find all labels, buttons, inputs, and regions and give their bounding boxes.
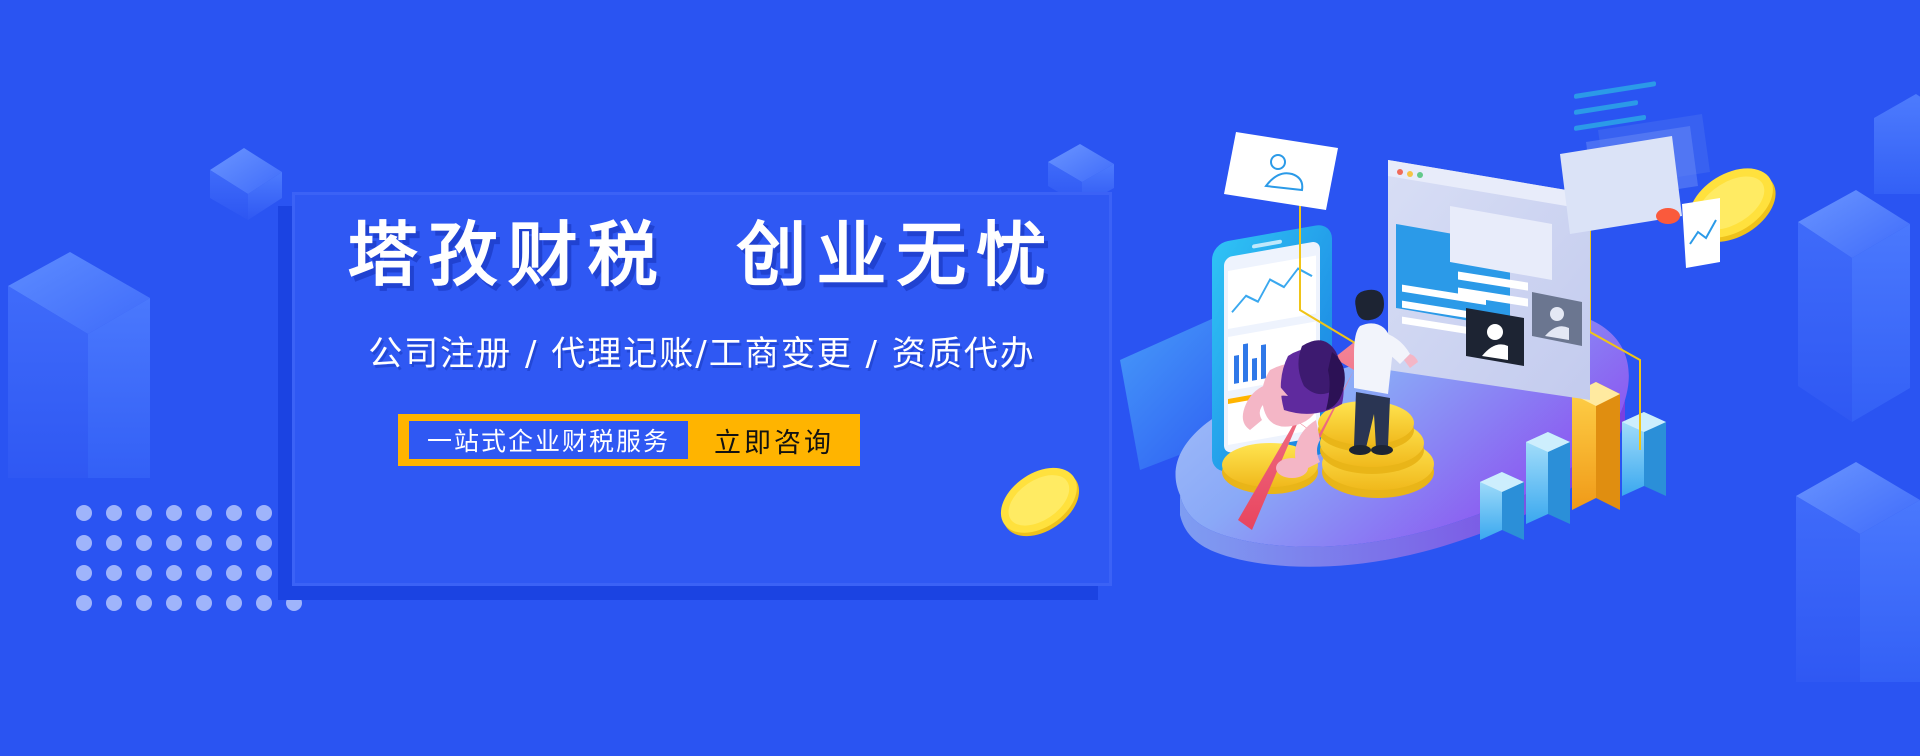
dot (256, 565, 272, 581)
dot (76, 505, 92, 521)
bar-4 (1622, 412, 1666, 496)
dot (106, 595, 122, 611)
dot (76, 595, 92, 611)
dot (196, 565, 212, 581)
coin-icon-center (990, 452, 1090, 552)
dashboard-window (1388, 160, 1590, 400)
dot (196, 505, 212, 521)
dot (106, 565, 122, 581)
dot (136, 505, 152, 521)
bar-1 (1480, 472, 1524, 540)
prism-icon-left (28, 228, 168, 478)
cta-tag-label: 一站式企业财税服务 (409, 421, 688, 459)
dot (226, 505, 242, 521)
dot (256, 535, 272, 551)
dot (136, 595, 152, 611)
dot (226, 535, 242, 551)
bar-2 (1526, 432, 1570, 524)
prism-icon-right-lower (1790, 452, 1920, 682)
dot (106, 505, 122, 521)
prism-icon-right-top (1864, 84, 1920, 204)
prism-icon-right-tall (1782, 172, 1920, 462)
dot (256, 595, 272, 611)
banner-content: 塔孜财税 创业无忧 公司注册 / 代理记账/工商变更 / 资质代办 一站式企业财… (292, 192, 1112, 586)
dot (196, 535, 212, 551)
dot (136, 565, 152, 581)
cta-bar[interactable]: 一站式企业财税服务 立即咨询 (398, 414, 860, 466)
dot (166, 565, 182, 581)
bar-3-highlight (1572, 382, 1620, 510)
dot (76, 565, 92, 581)
dot (166, 535, 182, 551)
dot-grid-icon (76, 505, 302, 611)
dot (226, 595, 242, 611)
dot (136, 535, 152, 551)
consult-now-button[interactable]: 立即咨询 (688, 414, 860, 466)
dot (106, 535, 122, 551)
banner-title: 塔孜财税 创业无忧 (292, 220, 1112, 290)
business-illustration (1120, 120, 1720, 590)
dot (166, 595, 182, 611)
dot (166, 505, 182, 521)
dot (196, 595, 212, 611)
contact-card (1224, 132, 1338, 210)
dot (76, 535, 92, 551)
chart-card (1682, 198, 1720, 268)
dot (256, 505, 272, 521)
promo-banner: 塔孜财税 创业无忧 公司注册 / 代理记账/工商变更 / 资质代办 一站式企业财… (0, 0, 1920, 756)
dot (226, 565, 242, 581)
banner-subtitle: 公司注册 / 代理记账/工商变更 / 资质代办 (292, 337, 1112, 371)
